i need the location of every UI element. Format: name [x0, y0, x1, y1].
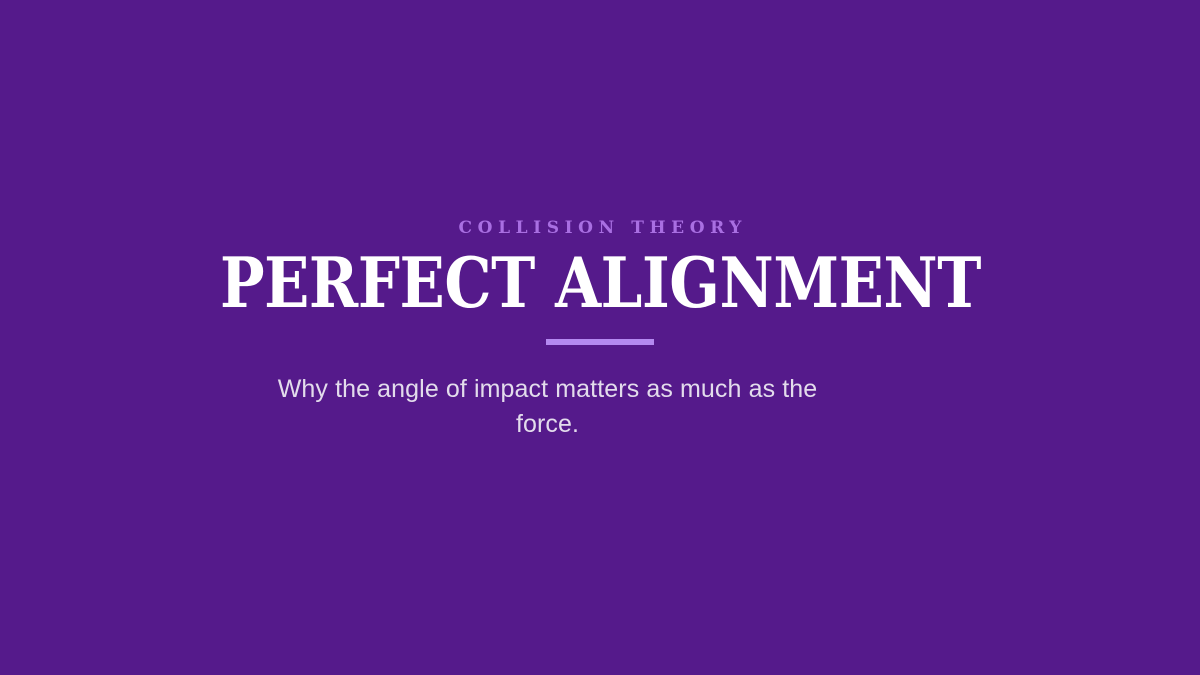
presentation-slide: COLLISION THEORY PERFECT ALIGNMENT Why t…: [0, 0, 1200, 675]
slide-title: PERFECT ALIGNMENT: [219, 249, 980, 318]
slide-eyebrow-label: COLLISION THEORY: [453, 219, 747, 238]
divider-container: [0, 339, 1200, 345]
slide-subtitle: Why the angle of impact matters as much …: [263, 372, 833, 443]
slide-content-block: COLLISION THEORY PERFECT ALIGNMENT Why t…: [0, 0, 1200, 675]
title-divider-rule: [546, 339, 654, 345]
